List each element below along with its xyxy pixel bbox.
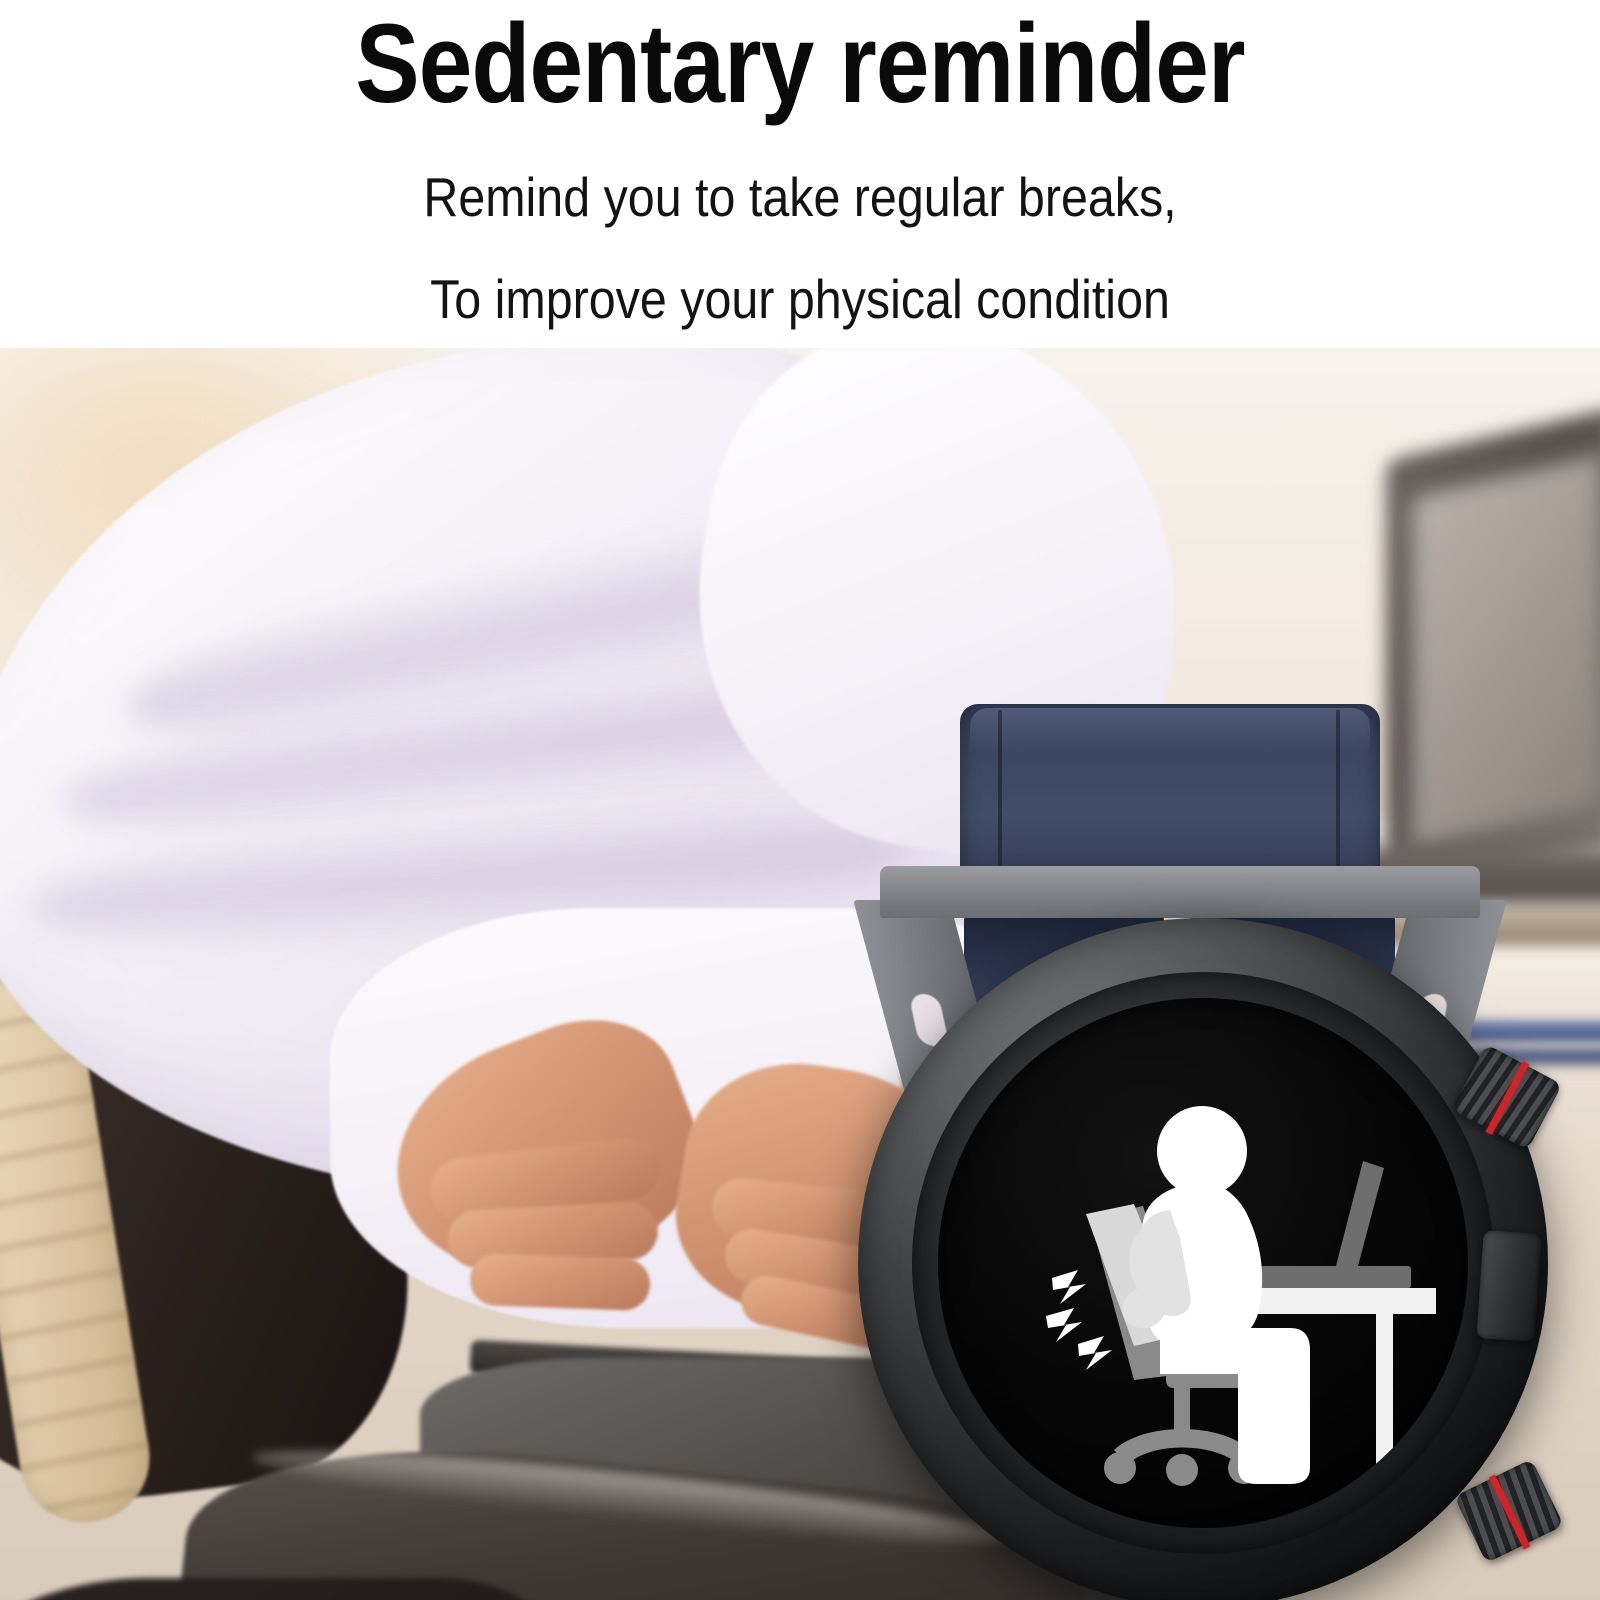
sedentary-back-pain-icon	[938, 998, 1468, 1528]
watch-strap-highlight	[970, 708, 1370, 754]
watch-strap-seam-right	[1336, 710, 1340, 878]
subtitle-line-1: Remind you to take regular breaks,	[96, 170, 1504, 225]
lug-cross-bar	[880, 866, 1480, 918]
watch-strap-seam-left	[998, 710, 1002, 878]
middle-side-button[interactable]	[1476, 1230, 1541, 1342]
watch-screen[interactable]	[938, 998, 1468, 1528]
subtitle-line-2: To improve your physical condition	[96, 272, 1504, 327]
left-hand-finger-3	[469, 1253, 651, 1311]
header-banner: Sedentary reminder Remind you to take re…	[0, 0, 1600, 348]
page-title: Sedentary reminder	[112, 8, 1488, 120]
smartwatch-product[interactable]	[820, 704, 1580, 1600]
product-marketing-page: Sedentary reminder Remind you to take re…	[0, 0, 1600, 1600]
lifestyle-photo	[0, 348, 1600, 1600]
